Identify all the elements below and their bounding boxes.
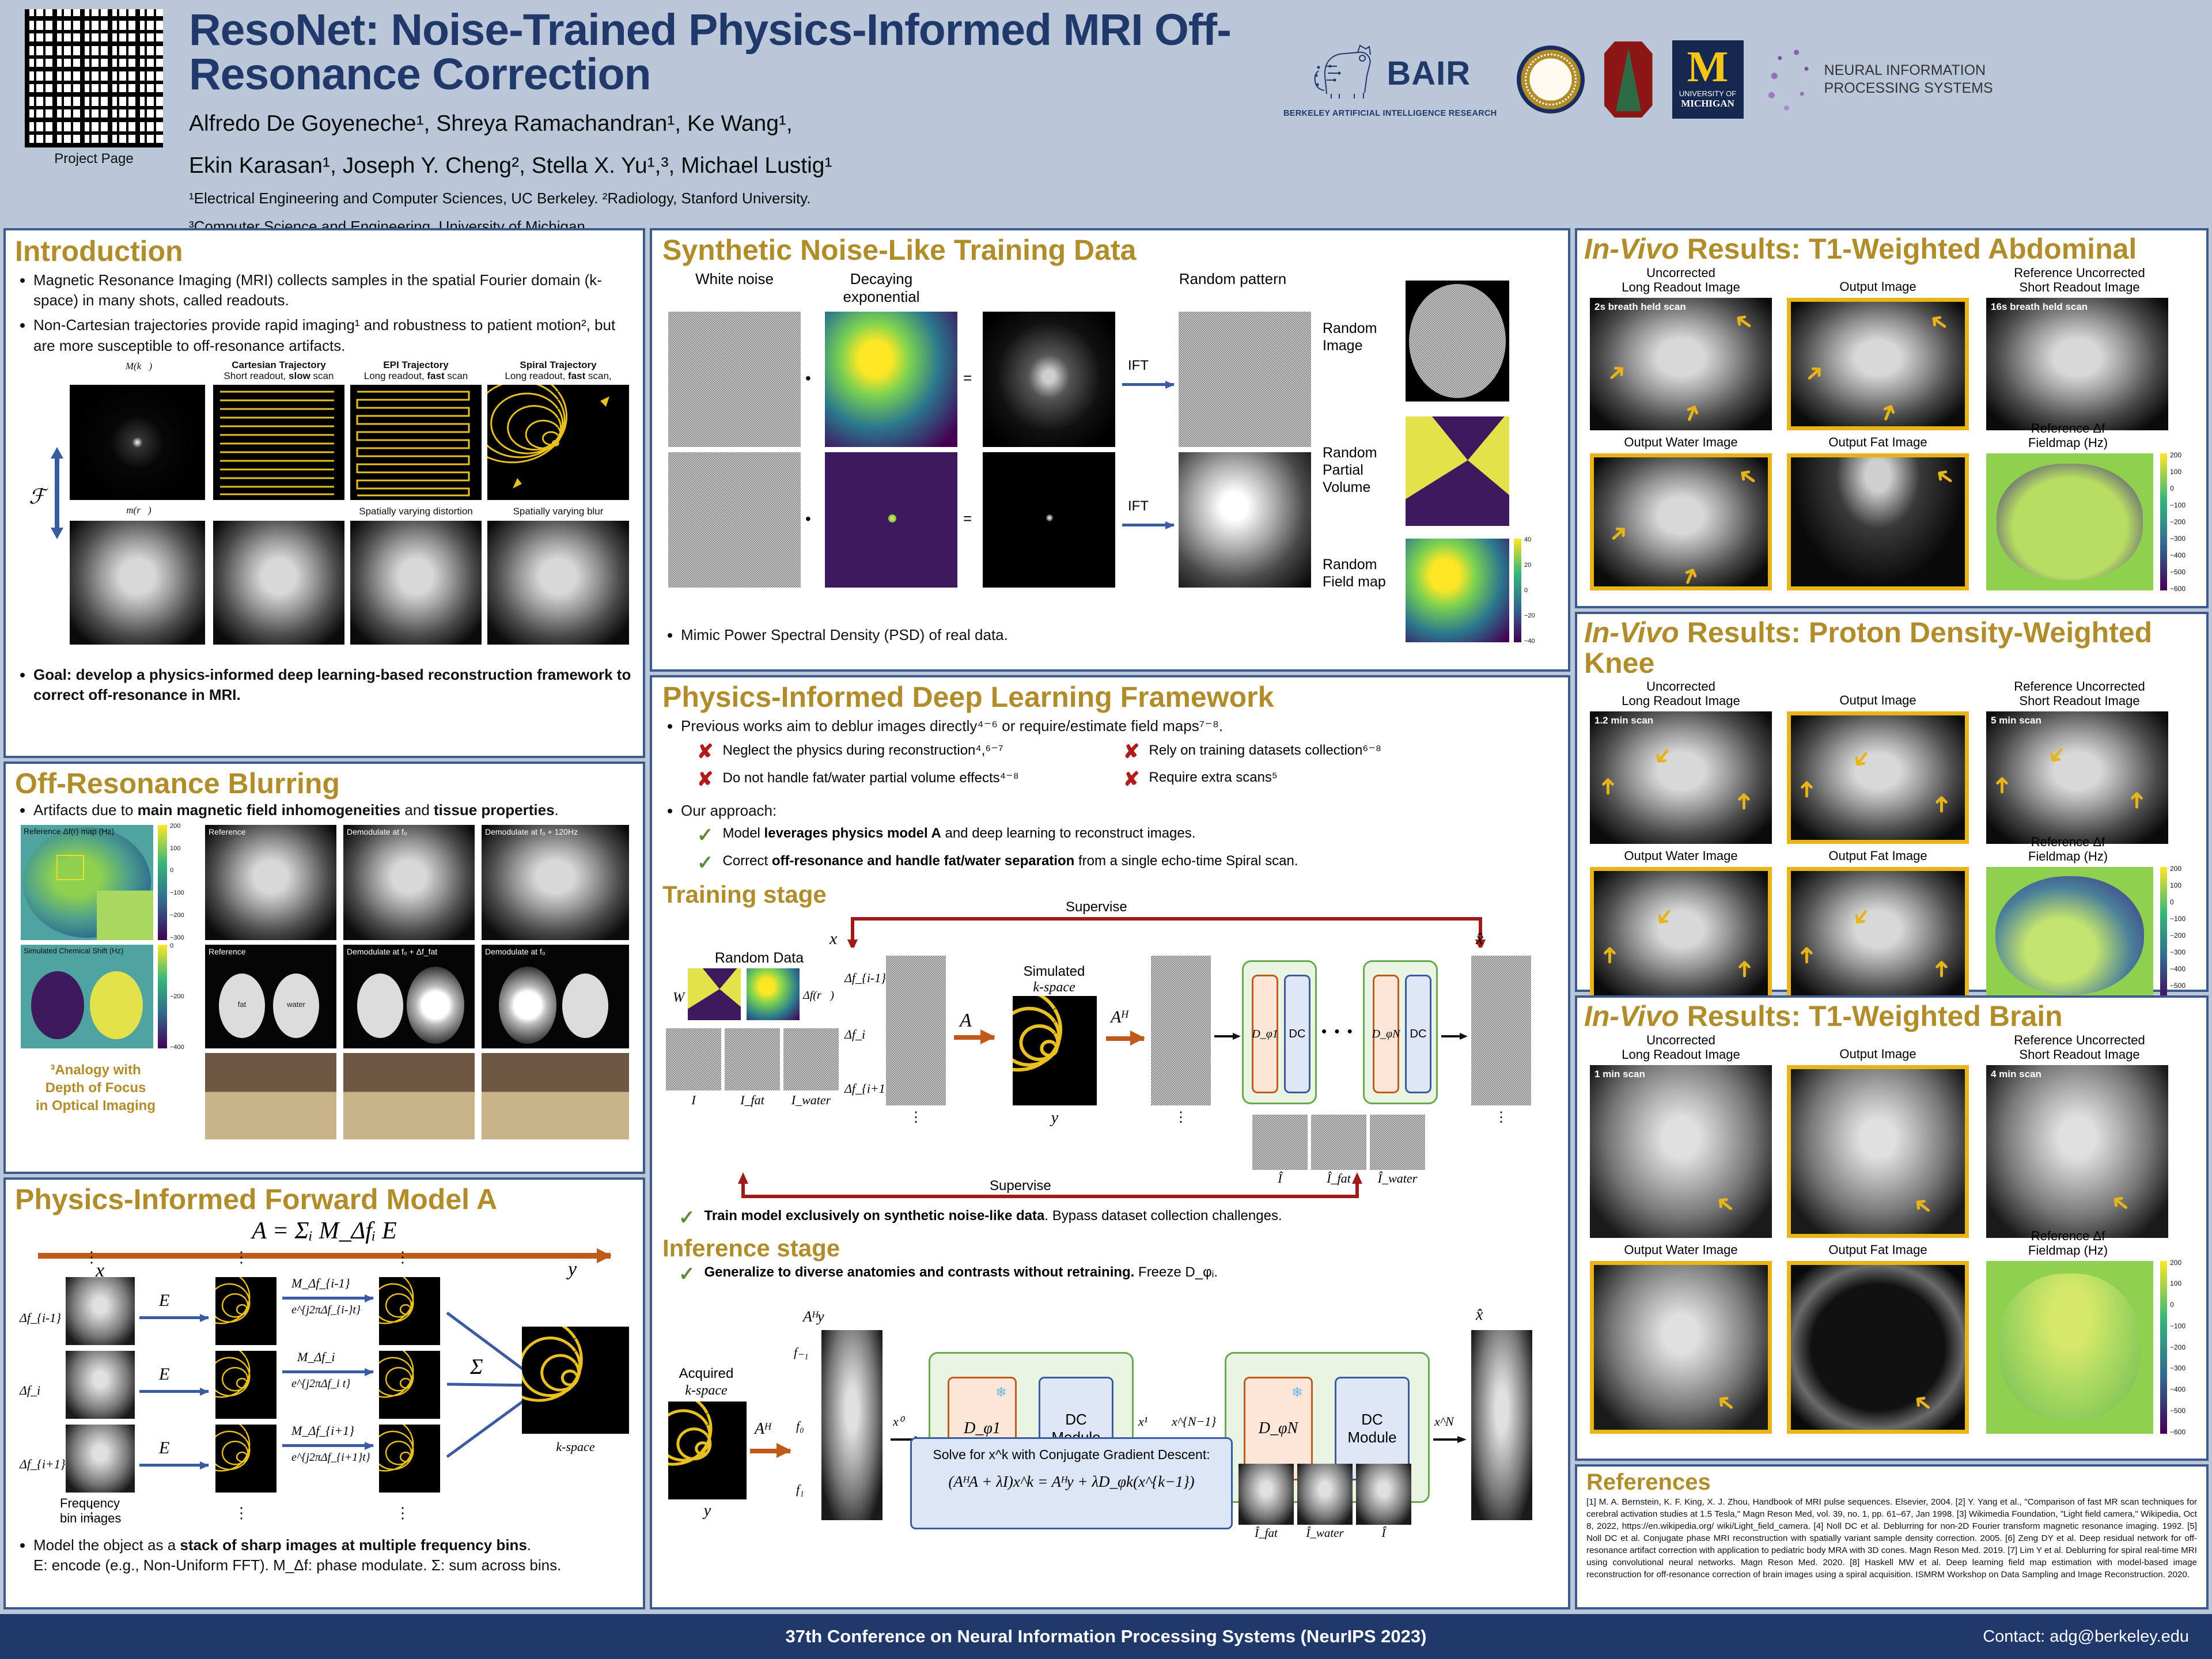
spiral-title: Spiral Trajectory bbox=[486, 359, 630, 371]
x-step-0: x⁰ bbox=[893, 1414, 904, 1429]
x-stack-image bbox=[886, 956, 946, 1105]
reference-short-readout-image: 4 min scan ➜ bbox=[1986, 1065, 2168, 1238]
annotation-arrow-icon: ➜ bbox=[1930, 959, 1953, 979]
off-resonance-panel: Off-Resonance Blurring Artifacts due to … bbox=[3, 762, 645, 1174]
denoiser-label: D_φ1 bbox=[1252, 1028, 1278, 1041]
tick: −400 bbox=[170, 1044, 184, 1051]
forward-model-footnote-2: E: encode (e.g., Non-Uniform FFT). M_Δf:… bbox=[33, 1555, 634, 1575]
tick: 100 bbox=[2170, 1279, 2186, 1287]
W-label: W bbox=[673, 990, 684, 1006]
framework-pros: ✓ Model leverages physics model A and de… bbox=[697, 825, 1558, 873]
adjoint-arrow-icon bbox=[750, 1449, 790, 1453]
simulated-kspace-image bbox=[1013, 996, 1097, 1105]
tick: 200 bbox=[2170, 1259, 2186, 1267]
introduction-goal: Goal: develop a physics-informed deep le… bbox=[15, 665, 634, 706]
random-fieldmap-label: Random Field map bbox=[1323, 556, 1397, 590]
results-brain-title: In-Vivo Results: T1-Weighted Brain bbox=[1584, 1001, 2199, 1032]
annotation-arrow-icon: ➜ bbox=[2125, 790, 2148, 810]
output-Ihatfat-image bbox=[1311, 1115, 1366, 1170]
random-partial-volume-label: Random Partial Volume bbox=[1323, 444, 1397, 496]
tick: 40 bbox=[1524, 536, 1535, 543]
tick: −200 bbox=[2170, 1343, 2186, 1351]
tick: −200 bbox=[2170, 931, 2186, 940]
image-domain-label: m(r⃗) bbox=[73, 505, 205, 516]
kspace-caption: k-space bbox=[522, 1440, 629, 1455]
inference-out-label-2: Î bbox=[1356, 1526, 1411, 1540]
snowflake-icon: ❄ bbox=[995, 1384, 1007, 1401]
denoiser-block-1[interactable]: D_φ1 bbox=[1252, 975, 1278, 1093]
tick: −200 bbox=[2170, 518, 2186, 526]
bear-icon bbox=[1309, 41, 1378, 105]
caption: Uncorrected Long Readout Image bbox=[1589, 679, 1773, 709]
page-title: ResoNet: Noise-Trained Physics-Informed … bbox=[189, 8, 1272, 97]
unrolled-block-1: D_φ1 DC bbox=[1242, 960, 1317, 1104]
author-line-1: Alfredo De Goyeneche¹, Shreya Ramachandr… bbox=[189, 109, 1272, 139]
check-icon: ✓ bbox=[697, 825, 714, 845]
vdots-icon: ⋮ bbox=[84, 1248, 99, 1266]
caption: Output Water Image bbox=[1589, 1243, 1773, 1257]
affiliation-line-1: ¹Electrical Engineering and Computer Sci… bbox=[189, 188, 1272, 208]
check-icon: ✓ bbox=[679, 1208, 695, 1228]
phantom-epi-image bbox=[350, 521, 482, 645]
modulated-spiral-2 bbox=[379, 1425, 440, 1493]
dc-label: DC bbox=[1289, 1028, 1306, 1041]
caption: Demodulate at f₀ bbox=[347, 827, 407, 836]
ellipsis-icon: • • • bbox=[1321, 1022, 1354, 1040]
check-icon: ✓ bbox=[679, 1264, 695, 1284]
x-icon: ✘ bbox=[697, 742, 714, 762]
fieldmap-colorbar bbox=[1514, 539, 1521, 642]
pro-label: Model leverages physics model A and deep… bbox=[723, 825, 1196, 842]
spiral-trajectory-image bbox=[487, 385, 629, 500]
output-label-2: Î_water bbox=[1370, 1171, 1425, 1186]
fieldmap-colorbar bbox=[2160, 1261, 2167, 1434]
kspace-spiral-1 bbox=[215, 1351, 276, 1419]
x-icon: ✘ bbox=[1123, 770, 1140, 789]
mod-label-1: M_Δf_i bbox=[297, 1350, 335, 1365]
annotation-arrow-icon: ➜ bbox=[1874, 399, 1903, 425]
framework-bullet-2: Our approach: bbox=[662, 801, 1558, 821]
vdots-icon: ⋮ bbox=[395, 1248, 410, 1266]
training-stage-figure: Supervise x x̂ Random Data W Δf(r⃗) I I_… bbox=[662, 908, 1558, 1208]
caption: Output Water Image bbox=[1589, 849, 1773, 863]
cg-title: Solve for x^k with Conjugate Gradient De… bbox=[922, 1447, 1221, 1463]
dc-block-1[interactable]: DC bbox=[1284, 975, 1310, 1093]
results-brain-panel: In-Vivo Results: T1-Weighted Brain Uncor… bbox=[1575, 995, 2209, 1461]
fat-label: fat bbox=[219, 1000, 265, 1009]
demod-reference-image: Reference bbox=[205, 825, 336, 940]
inference-out-water bbox=[1297, 1464, 1353, 1525]
xN-arrow-icon bbox=[1433, 1435, 1467, 1444]
demod-f0-120-image: Demodulate at f₀ + 120Hz bbox=[482, 825, 629, 940]
caption: Reference Δf Fieldmap (Hz) bbox=[1982, 421, 2154, 450]
scan-time-label: 2s breath held scan bbox=[1594, 301, 1686, 313]
annotation-arrow-icon: ➜ bbox=[1677, 399, 1706, 426]
frequency-bin-image-1 bbox=[66, 1351, 135, 1419]
caption: Demodulate at f₀ + 120Hz bbox=[485, 827, 578, 836]
ift-arrow-icon-top bbox=[1122, 383, 1174, 386]
annotation-arrow-icon: ➜ bbox=[1676, 562, 1705, 589]
E-label-1: E bbox=[159, 1365, 169, 1384]
cartesian-desc: Short readout, slow scan bbox=[211, 370, 347, 382]
tick: 0 bbox=[170, 867, 184, 874]
dc-label: DC Module bbox=[1336, 1411, 1408, 1446]
encode-arrow-icon-0 bbox=[139, 1316, 209, 1319]
input-label-1: I_fat bbox=[725, 1093, 780, 1108]
xhat-label: x̂ bbox=[1476, 929, 1483, 949]
caption: Uncorrected Long Readout Image bbox=[1589, 1033, 1773, 1062]
fieldmap-colorbar-ticks: 200 100 0 −100 −200 −300 −400 −500 −600 bbox=[2170, 451, 2186, 593]
scan-time-label: 1 min scan bbox=[1594, 1069, 1645, 1080]
epi-title: EPI Trajectory bbox=[348, 359, 484, 371]
AHy-label: Aᴴy bbox=[803, 1308, 824, 1325]
neurips-line-2: PROCESSING SYSTEMS bbox=[1824, 79, 1993, 97]
y-label: y bbox=[568, 1259, 577, 1281]
water-label: water bbox=[273, 1000, 319, 1009]
E-label-0: E bbox=[159, 1291, 169, 1310]
framework-title: Physics-Informed Deep Learning Framework bbox=[662, 682, 1558, 713]
denoiser-label: D_φN bbox=[1259, 1419, 1298, 1438]
annotation-arrow-icon: ➜ bbox=[1930, 462, 1959, 492]
neurips-logo: NEURAL INFORMATION PROCESSING SYSTEMS bbox=[1763, 44, 1993, 115]
demod-f0-image: Demodulate at f₀ bbox=[343, 825, 475, 940]
check-icon: ✓ bbox=[697, 853, 714, 873]
spiral-icon bbox=[379, 1277, 440, 1345]
annotation-arrow-icon: ➜ bbox=[1604, 518, 1634, 548]
conference-name: 37th Conference on Neural Information Pr… bbox=[0, 1626, 2212, 1647]
tick: −500 bbox=[2170, 982, 2186, 990]
tick: −20 bbox=[1524, 612, 1535, 619]
qr-code-icon[interactable] bbox=[25, 9, 163, 147]
output-fat-image: ➜ bbox=[1787, 1261, 1969, 1434]
references-body: [1] M. A. Bernstein, K. F. King, X. J. Z… bbox=[1586, 1497, 2197, 1581]
input-label-0: I bbox=[666, 1093, 721, 1108]
conjugate-gradient-callout: Solve for x^k with Conjugate Gradient De… bbox=[910, 1437, 1233, 1529]
forward-A-arrow-icon bbox=[954, 1035, 994, 1040]
annotation-arrow-icon: ➜ bbox=[1732, 791, 1755, 811]
fieldmap-colorbar bbox=[2160, 453, 2167, 590]
white-noise-label: White noise bbox=[668, 270, 801, 288]
tick: 20 bbox=[1524, 562, 1535, 569]
results-abdominal-figure: Uncorrected Long Readout Image Output Im… bbox=[1584, 266, 2199, 600]
output-fat-image: ➜ ➜ ➜ bbox=[1787, 867, 1969, 1004]
input-I-image bbox=[666, 1028, 721, 1090]
output-image: ➜ ➜ ➜ bbox=[1787, 711, 1969, 844]
random-pattern-label: Random pattern bbox=[1164, 270, 1302, 288]
x-icon: ✘ bbox=[697, 770, 714, 789]
sim-kspace-line-2: k-space bbox=[1008, 980, 1100, 996]
caption: Output Fat Image bbox=[1786, 849, 1970, 863]
random-fieldmap-thumb bbox=[747, 968, 800, 1020]
forward-model-figure: x ⋮ ⋮ ⋮ ⋮ ⋮ ⋮ Δf_{i-1} Δf_i Δf_{i+1} E E… bbox=[15, 1263, 634, 1534]
introduction-title: Introduction bbox=[15, 236, 634, 267]
xhat-stack-image bbox=[1471, 956, 1531, 1105]
exp-label-2: e^{j2πΔf_{i+1}t} bbox=[291, 1451, 370, 1464]
frequency-bin-image-2 bbox=[66, 1425, 135, 1493]
neurips-dots-icon bbox=[1763, 44, 1819, 115]
AH-label: Aᴴ bbox=[755, 1420, 770, 1438]
tick: 200 bbox=[170, 823, 184, 829]
equals-icon: = bbox=[963, 510, 972, 528]
modulated-spiral-1 bbox=[379, 1351, 440, 1419]
uncorrected-long-readout-image: 1.2 min scan ➜ ➜ ➜ bbox=[1590, 711, 1772, 844]
dc-label: DC bbox=[1410, 1028, 1427, 1041]
bin-label-2: Δf_{i+1} bbox=[20, 1457, 66, 1472]
blur-label: Spatially varying blur bbox=[486, 506, 630, 517]
results-knee-panel: In-Vivo Results: Proton Density-Weighted… bbox=[1575, 612, 2209, 992]
author-line-2: Ekin Karasan¹, Joseph Y. Cheng², Stella … bbox=[189, 151, 1272, 181]
caption: Reference bbox=[209, 827, 246, 836]
list-item: Artifacts due to main magnetic field inh… bbox=[33, 800, 634, 820]
acquired-kspace-label: Acquired k-space bbox=[666, 1366, 747, 1399]
encode-arrow-icon-2 bbox=[139, 1464, 209, 1467]
kspace-image bbox=[70, 385, 205, 500]
denoiser-label: D_φN bbox=[1372, 1028, 1400, 1041]
inference-out-fat bbox=[1238, 1464, 1294, 1525]
forward-flow-arrow-icon bbox=[38, 1253, 611, 1259]
caption: Reference bbox=[209, 947, 246, 956]
xhat-brain-stack bbox=[1471, 1330, 1532, 1520]
uncorrected-long-readout-image: 2s breath held scan ➜ ➜ ➜ bbox=[1590, 298, 1772, 430]
supervise-bottom-label: Supervise bbox=[985, 1178, 1056, 1194]
list-item: Previous works aim to deblur images dire… bbox=[681, 716, 1558, 736]
dog-photo-blur-1 bbox=[343, 1053, 475, 1139]
annotation-arrow-icon: ➜ bbox=[1602, 357, 1632, 387]
tick: 100 bbox=[2170, 468, 2186, 476]
tick: 0 bbox=[1524, 587, 1535, 594]
synthetic-title: Synthetic Noise-Like Training Data bbox=[662, 235, 1558, 266]
frequency-bin-caption: Frequency bin images bbox=[60, 1496, 146, 1527]
denoiser-label: D_φ1 bbox=[964, 1419, 1001, 1438]
fourier-symbol: ℱ bbox=[29, 484, 45, 509]
vdots-icon: ⋮ bbox=[234, 1504, 249, 1522]
smooth-pattern-image bbox=[1179, 452, 1311, 588]
fieldmap-colorbar bbox=[158, 825, 167, 940]
phantom-spiral-image bbox=[487, 521, 629, 645]
caption: Demodulate at f₀ + Δf_fat bbox=[347, 947, 437, 956]
x-step-1: x¹ bbox=[1138, 1414, 1147, 1429]
spiral-caption: Spiral Trajectory Long readout, fast sca… bbox=[486, 359, 630, 382]
random-partial-volume-output bbox=[1406, 416, 1509, 526]
spiral-icon bbox=[215, 1277, 276, 1345]
phantom-reference-image bbox=[70, 521, 205, 645]
denoiser-block-N[interactable]: D_φN bbox=[1373, 975, 1399, 1093]
list-item: Our approach: bbox=[681, 801, 1558, 821]
equals-icon: = bbox=[963, 369, 972, 387]
training-conclusion-text: Train model exclusively on synthetic noi… bbox=[704, 1208, 1282, 1224]
project-page-qr[interactable]: Project Page bbox=[16, 9, 172, 167]
annotation-arrow-icon: ➜ bbox=[2105, 1188, 2135, 1218]
tick: −400 bbox=[2170, 1385, 2186, 1393]
results-knee-title: In-Vivo Results: Proton Density-Weighted… bbox=[1584, 618, 2199, 678]
pro-label: Correct off-resonance and handle fat/wat… bbox=[723, 853, 1298, 869]
caption: Output Water Image bbox=[1589, 435, 1773, 450]
con-label: Require extra scans⁵ bbox=[1149, 770, 1278, 786]
E-label-2: E bbox=[159, 1438, 169, 1458]
kspace-spiral-2 bbox=[215, 1425, 276, 1493]
unrolled-block-N: D_φN DC bbox=[1363, 960, 1438, 1104]
x-step-n-1: x^{N−1} bbox=[1172, 1414, 1216, 1429]
annotation-arrow-icon: ➜ bbox=[1925, 308, 1953, 338]
spiral-desc: Long readout, fast scan, bbox=[486, 370, 630, 382]
umich-m-letter: M bbox=[1687, 50, 1729, 85]
chemical-shift-title: Simulated Chemical Shift (Hz) bbox=[24, 946, 123, 955]
fatwater-reference-image: Reference fat water bbox=[205, 945, 336, 1048]
results-knee-figure: Uncorrected Long Readout Image Output Im… bbox=[1584, 679, 2199, 1013]
list-item: Magnetic Resonance Imaging (MRI) collect… bbox=[33, 270, 634, 311]
scan-time-label: 1.2 min scan bbox=[1594, 715, 1653, 726]
spiral-icon bbox=[522, 1327, 629, 1434]
introduction-panel: Introduction Magnetic Resonance Imaging … bbox=[3, 228, 645, 758]
introduction-bullets: Magnetic Resonance Imaging (MRI) collect… bbox=[15, 270, 634, 356]
caption: Output Fat Image bbox=[1786, 435, 1970, 450]
forward-model-equation: A = Σᵢ M_Δfᵢ E bbox=[15, 1217, 634, 1245]
cartesian-trajectory-image bbox=[213, 385, 344, 500]
inference-stage-figure: Acquired k-space y Aᴴ Aᴴy f₋₁ f₀ f₁ x⁰ D… bbox=[662, 1292, 1558, 1546]
caption: Reference Uncorrected Short Readout Imag… bbox=[1987, 679, 2172, 709]
poster-footer: 37th Conference on Neural Information Pr… bbox=[0, 1614, 2212, 1659]
train-bin-label-0: Δf_{i-1} bbox=[844, 971, 886, 986]
results-abdominal-title: In-Vivo Results: T1-Weighted Abdominal bbox=[1584, 234, 2199, 264]
caption: Output Image bbox=[1786, 279, 1970, 294]
fieldmap-colorbar-ticks: 200 100 0 −100 −200 −300 bbox=[170, 823, 184, 941]
supervise-top-arrow-icon bbox=[847, 913, 1492, 948]
annotation-arrow-icon: ➜ bbox=[1847, 744, 1877, 774]
caption: Output Image bbox=[1786, 1047, 1970, 1061]
reference-fieldmap-image bbox=[1986, 1261, 2153, 1434]
input-Ifat-image bbox=[725, 1028, 780, 1090]
output-fat-image: ➜ bbox=[1787, 453, 1969, 590]
adjoint-arrow-icon bbox=[1106, 1036, 1144, 1041]
annotation-arrow-icon: ➜ bbox=[1795, 779, 1818, 799]
results-abdominal-panel: In-Vivo Results: T1-Weighted Abdominal U… bbox=[1575, 228, 2209, 608]
annotation-arrow-icon: ➜ bbox=[1648, 741, 1678, 771]
annotation-arrow-icon: ➜ bbox=[1711, 1388, 1740, 1418]
forward-model-footnotes: Model the object as a stack of sharp ima… bbox=[15, 1535, 634, 1576]
fieldmap-colorbar bbox=[2160, 867, 2167, 1004]
tick: −300 bbox=[170, 934, 184, 941]
tick: 100 bbox=[2170, 881, 2186, 889]
cartesian-title: Cartesian Trajectory bbox=[211, 359, 347, 371]
ift-arrow-icon-bottom bbox=[1122, 524, 1174, 527]
annotation-arrow-icon: ➜ bbox=[1733, 462, 1762, 492]
ift-label-bottom: IFT bbox=[1128, 498, 1149, 514]
xhat-label: x̂ bbox=[1476, 1306, 1483, 1324]
inference-conclusion: ✓ Generalize to diverse anatomies and co… bbox=[679, 1264, 1558, 1284]
cartesian-lines-icon bbox=[213, 385, 344, 500]
product-spectrum-image-top bbox=[983, 312, 1115, 447]
f-label-1: f₀ bbox=[796, 1419, 804, 1434]
stanford-logo-icon bbox=[1604, 41, 1653, 118]
con-item: ✘Require extra scans⁵ bbox=[1123, 770, 1527, 789]
to-output-arrow-icon bbox=[1441, 1032, 1468, 1041]
caption: Reference Δf Fieldmap (Hz) bbox=[1982, 1229, 2154, 1258]
epi-desc: Long readout, fast scan bbox=[348, 370, 484, 382]
caption: Reference Uncorrected Short Readout Imag… bbox=[1987, 1033, 2172, 1062]
distortion-label: Spatially varying distortion bbox=[348, 506, 484, 517]
decaying-exponential-label: Decaying exponential bbox=[812, 270, 950, 306]
analogy-line-1: ³Analogy with bbox=[26, 1061, 165, 1079]
sim-kspace-label: Simulated k-space bbox=[1008, 964, 1100, 995]
output-image: ➜ bbox=[1787, 1065, 1969, 1238]
reference-fieldmap-image bbox=[1986, 453, 2153, 590]
decaying-exponential-image-top bbox=[825, 312, 957, 447]
random-data-label: Random Data bbox=[690, 950, 828, 967]
input-Iwater-image bbox=[783, 1028, 839, 1090]
analogy-line-2: Depth of Focus bbox=[26, 1079, 165, 1097]
pro-item: ✓ Correct off-resonance and handle fat/w… bbox=[697, 853, 1558, 873]
tick: −300 bbox=[2170, 535, 2186, 543]
umich-sub1: UNIVERSITY OF bbox=[1679, 89, 1736, 98]
x-step-N: x^N bbox=[1434, 1414, 1454, 1429]
output-Ihatwater-image bbox=[1370, 1115, 1425, 1170]
con-label: Neglect the physics during reconstructio… bbox=[723, 742, 1003, 759]
sim-kspace-line-1: Simulated bbox=[1008, 964, 1100, 980]
neurips-wordmark: NEURAL INFORMATION PROCESSING SYSTEMS bbox=[1824, 62, 1993, 98]
f-label-2: f₁ bbox=[796, 1482, 804, 1497]
caption: Uncorrected Long Readout Image bbox=[1589, 266, 1773, 295]
dc-block-N[interactable]: DC bbox=[1405, 975, 1431, 1093]
spiral-icon bbox=[668, 1402, 747, 1499]
encode-arrow-icon-1 bbox=[139, 1390, 209, 1393]
caption: Demodulate at f₀ bbox=[485, 947, 546, 956]
fourier-double-arrow-icon bbox=[51, 447, 63, 539]
off-resonance-bullet: Artifacts due to main magnetic field inh… bbox=[15, 800, 634, 820]
dog-photo-blur-2 bbox=[482, 1053, 629, 1139]
qr-label: Project Page bbox=[16, 151, 172, 167]
annotation-arrow-icon: ➜ bbox=[1710, 1189, 1740, 1219]
uncorrected-long-readout-image: 1 min scan ➜ bbox=[1590, 1065, 1772, 1238]
training-conclusion: ✓ Train model exclusively on synthetic n… bbox=[679, 1208, 1558, 1228]
sum-symbol: Σ bbox=[470, 1354, 483, 1380]
inference-stage-title: Inference stage bbox=[662, 1236, 1558, 1261]
references-title: References bbox=[1586, 1470, 2197, 1494]
annotation-arrow-icon: ➜ bbox=[1733, 959, 1756, 979]
annotation-arrow-icon: ➜ bbox=[1908, 1388, 1937, 1418]
tick: −40 bbox=[1524, 638, 1535, 645]
annotation-arrow-icon: ➜ bbox=[1795, 945, 1818, 965]
neurips-line-1: NEURAL INFORMATION bbox=[1824, 62, 1993, 79]
annotation-arrow-icon: ➜ bbox=[1729, 307, 1758, 337]
bair-tagline: BERKELEY ARTIFICIAL INTELLIGENCE RESEARC… bbox=[1283, 109, 1497, 118]
framework-cons: ✘Neglect the physics during reconstructi… bbox=[697, 742, 1558, 797]
synthetic-figure: White noise Decaying exponential Random … bbox=[662, 268, 1558, 625]
f-label-0: f₋₁ bbox=[794, 1345, 808, 1360]
pro-item: ✓ Model leverages physics model A and de… bbox=[697, 825, 1558, 845]
AHy-brain-stack bbox=[821, 1330, 882, 1520]
y-label: y bbox=[1013, 1109, 1097, 1127]
output-Ihat-image bbox=[1252, 1115, 1308, 1170]
decaying-exponential-image-bottom bbox=[825, 452, 957, 588]
inference-out-I bbox=[1356, 1464, 1411, 1525]
tick: 0 bbox=[2170, 1301, 2186, 1309]
bair-wordmark: BAIR bbox=[1387, 54, 1471, 93]
con-item: ✘Neglect the physics during reconstructi… bbox=[697, 742, 1123, 762]
snowflake-icon: ❄ bbox=[1291, 1384, 1303, 1401]
output-water-image: ➜ ➜ ➜ bbox=[1590, 453, 1772, 590]
scan-time-label: 4 min scan bbox=[1991, 1069, 2041, 1080]
umich-sub2: MICHIGAN bbox=[1681, 98, 1734, 109]
vdots-icon: ⋮ bbox=[886, 1109, 946, 1126]
tick: −100 bbox=[2170, 1322, 2186, 1330]
exp-label-1: e^{j2πΔf_i t} bbox=[291, 1377, 350, 1391]
tick: −300 bbox=[2170, 948, 2186, 956]
frequency-bin-image-0 bbox=[66, 1277, 135, 1345]
kspace-spiral-0 bbox=[215, 1277, 276, 1345]
epi-caption: EPI Trajectory Long readout, fast scan bbox=[348, 359, 484, 382]
tick: −400 bbox=[2170, 965, 2186, 973]
reference-short-readout-image: 16s breath held scan bbox=[1986, 298, 2168, 430]
